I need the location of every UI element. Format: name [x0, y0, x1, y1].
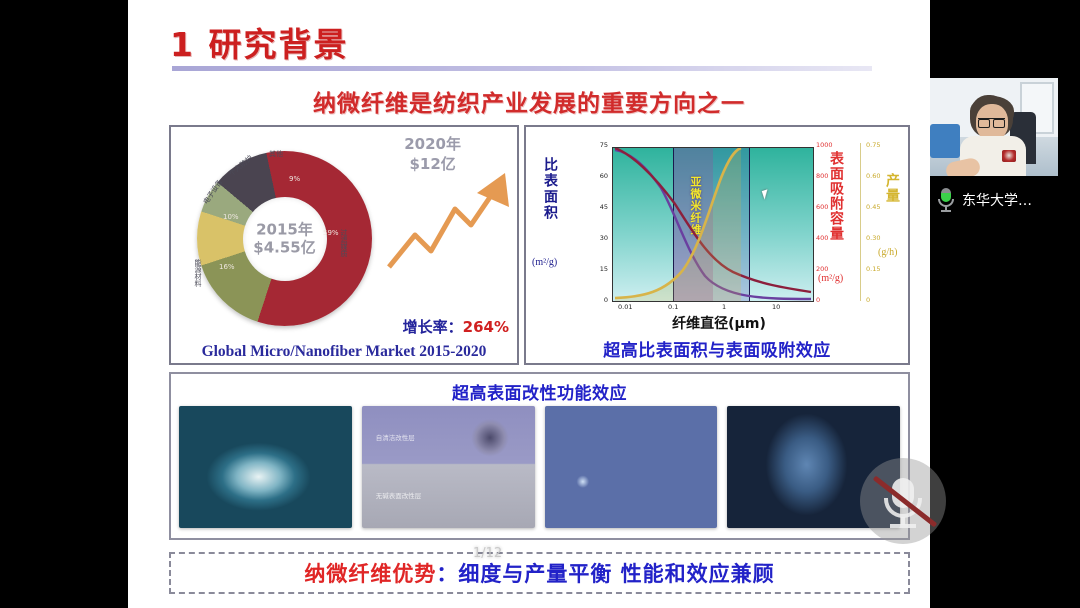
microscopy-caption-bottom: 无碱表面改性层: [376, 490, 422, 500]
axis-label-yield: 产量: [884, 173, 902, 203]
growth-arrow-icon: [385, 163, 515, 273]
presentation-slide: 1 研究背景 纳微纤维是纺织产业发展的重要方向之一 2015年 $4.55亿 过…: [128, 0, 930, 608]
surface-area-chart-panel: 比表面积 (m²/g) 75 60 45 30 15 0 亚微米纤维: [524, 125, 910, 365]
microphone-icon[interactable]: [938, 188, 954, 212]
participant-rail: 东华大学…: [930, 0, 1080, 608]
surface-modification-panel: 超高表面改性功能效应 自清洁改性层 无碱表面改性层: [169, 372, 910, 540]
left-panel-caption: Global Micro/Nanofiber Market 2015-2020: [171, 343, 517, 361]
bottom-panel-title: 超高表面改性功能效应: [171, 379, 908, 404]
chart-curves: [613, 148, 813, 301]
participant-glasses: [978, 118, 1005, 127]
axis-label-fiber-diameter: 纤维直径(μm): [526, 313, 912, 333]
banner-text: 纳微纤维优势：细度与产量平衡 性能和效应兼顾: [304, 558, 774, 588]
growth-rate-label: 增长率：264%: [403, 316, 509, 337]
page-title: 1 研究背景: [170, 18, 348, 66]
image-colored-droplets: [545, 406, 718, 528]
growth-year: 2020年: [404, 135, 461, 155]
segment-label-energy: 能源材料: [193, 259, 203, 287]
video-background-object: [930, 124, 960, 158]
segment-label-filtration: 过滤媒质: [339, 229, 349, 257]
conclusion-banner: 纳微纤维优势：细度与产量平衡 性能和效应兼顾: [169, 552, 910, 594]
slide-subtitle: 纳微纤维是纺织产业发展的重要方向之一: [128, 84, 930, 118]
segment-pct-other: 9%: [289, 175, 300, 183]
market-donut-panel: 2015年 $4.55亿 过滤媒质 59% 能源材料 16% 电子设备 10% …: [169, 125, 519, 365]
page-indicator: 1/12: [473, 546, 502, 561]
y-ticks-right: 0.75 0.60 0.45 0.30 0.15 0: [866, 141, 892, 301]
axis-label-specific-surface-area: 比表面积: [538, 157, 560, 221]
meeting-screen-share-view: 1 研究背景 纳微纤维是纺织产业发展的重要方向之一 2015年 $4.55亿 过…: [0, 0, 1080, 608]
banner-red-text: 纳微纤维优势: [304, 562, 436, 586]
segment-pct-filtration: 59%: [323, 229, 339, 237]
segment-pct-electronics: 10%: [223, 213, 239, 221]
segment-pct-energy: 16%: [219, 263, 235, 271]
participant-video-thumbnail[interactable]: [930, 78, 1058, 176]
image-microscopy: 自清洁改性层 无碱表面改性层: [362, 406, 535, 528]
axis-label-adsorption-capacity: 表面吸附容量: [826, 151, 846, 241]
segment-label-other: 其他: [269, 149, 283, 159]
axis-unit-specific-surface-area: (m²/g): [532, 257, 557, 268]
participant-badge: [1002, 150, 1016, 162]
microscopy-caption-top: 自清洁改性层: [376, 432, 415, 442]
growth-rate-value: 264%: [463, 318, 509, 336]
growth-rate-text: 增长率：: [403, 318, 463, 336]
axis-unit-adsorption-capacity: (m²/g): [818, 273, 843, 284]
y-ticks-left: 75 60 45 30 15 0: [582, 141, 608, 301]
active-speaker-row[interactable]: 东华大学…: [930, 182, 1080, 218]
microphone-muted-icon: [860, 458, 946, 544]
title-divider: [172, 66, 872, 71]
axis-unit-yield: (g/h): [878, 247, 897, 258]
donut-chart: 2015年 $4.55亿 过滤媒质 59% 能源材料 16% 电子设备 10% …: [197, 151, 372, 326]
image-strip: 自清洁改性层 无碱表面改性层: [179, 406, 900, 528]
banner-blue-text: ：细度与产量平衡 性能和效应兼顾: [436, 562, 774, 586]
right-panel-caption: 超高比表面积与表面吸附效应: [526, 336, 908, 361]
third-axis-line: [860, 143, 861, 301]
image-water-droplet: [179, 406, 352, 528]
speaker-name-label: 东华大学…: [962, 190, 1032, 210]
chart-plot-area: 亚微米纤维: [612, 147, 814, 302]
